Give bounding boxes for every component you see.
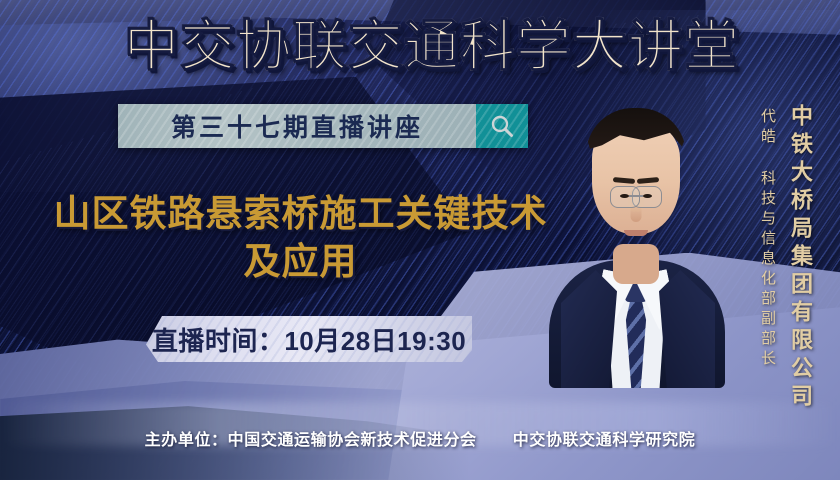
main-title: 中交协联交通科学大讲堂 bbox=[0, 14, 840, 78]
live-lecture-poster: 中交协联交通科学大讲堂 第三十七期直播讲座 山区铁路悬索桥施工关键技术 及应用 … bbox=[0, 0, 840, 480]
search-icon bbox=[489, 113, 515, 139]
footer-organizer-secondary: 中交协联交通科学研究院 bbox=[513, 432, 696, 449]
search-icon-box[interactable] bbox=[476, 104, 528, 148]
portrait-neck bbox=[613, 244, 659, 284]
portrait-mouth bbox=[624, 230, 648, 236]
lecture-title-line2: 及应用 bbox=[28, 238, 573, 286]
live-time-text: 直播时间：10月28日19:30 bbox=[152, 321, 466, 358]
speaker-portrait bbox=[553, 96, 719, 388]
portrait-eye-left bbox=[643, 194, 652, 198]
portrait-eyebrow-left bbox=[637, 177, 659, 184]
footer-organizer-primary: 主办单位：中国交通运输协会新技术促进分会 bbox=[145, 432, 477, 449]
portrait-eyebrow-right bbox=[613, 177, 635, 184]
live-time-banner: 直播时间：10月28日19:30 bbox=[146, 316, 472, 362]
footer-organizers: 主办单位：中国交通运输协会新技术促进分会 中交协联交通科学研究院 bbox=[0, 426, 840, 450]
episode-label-box: 第三十七期直播讲座 bbox=[118, 104, 476, 148]
speaker-name-role: 代皓 科技与信息化部副部长 bbox=[757, 108, 778, 370]
main-title-text: 中交协联交通科学大讲堂 bbox=[124, 15, 740, 77]
speaker-company: 中铁大桥局集团有限公司 bbox=[784, 104, 816, 412]
lecture-title-line1: 山区铁路悬索桥施工关键技术 bbox=[54, 193, 548, 234]
episode-bar: 第三十七期直播讲座 bbox=[118, 104, 528, 148]
portrait-glasses-bridge bbox=[629, 195, 643, 197]
lecture-title: 山区铁路悬索桥施工关键技术 及应用 bbox=[28, 190, 573, 286]
portrait-nose bbox=[631, 206, 642, 222]
episode-label: 第三十七期直播讲座 bbox=[171, 108, 423, 144]
portrait-eye-right bbox=[620, 194, 629, 198]
